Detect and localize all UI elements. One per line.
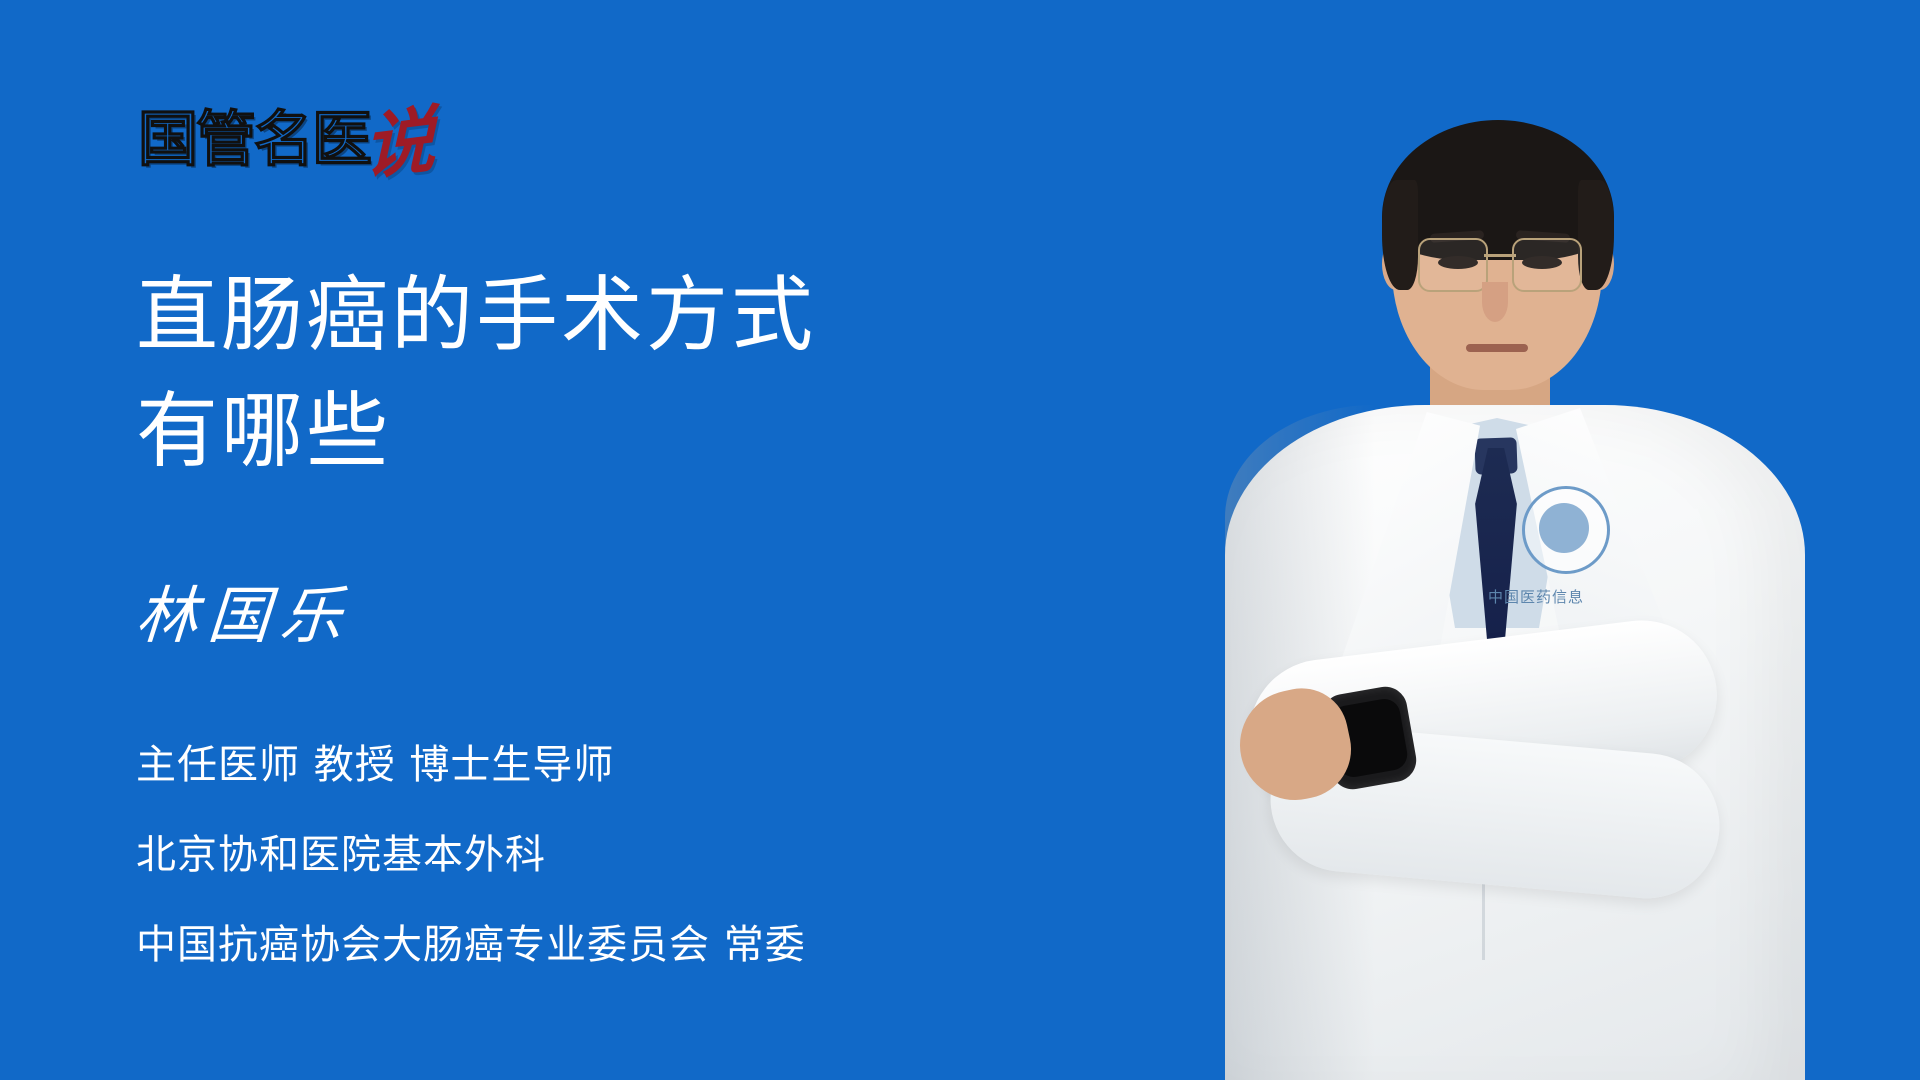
title-line-1: 直肠癌的手术方式 — [136, 258, 1086, 374]
doctor-name: 林国乐 — [133, 580, 354, 652]
portrait-hair-side-left — [1382, 180, 1418, 290]
credential-line: 中国抗癌协会大肠癌专业委员会 常委 — [136, 900, 1136, 990]
doctor-portrait-photo: 中国医药信息 — [1130, 0, 1920, 1080]
credential-line: 北京协和医院基本外科 — [136, 810, 1136, 900]
brand-logo-accent-text: 说 — [363, 109, 436, 178]
portrait-hair-side-right — [1578, 180, 1614, 290]
china-medical-information-emblem-icon — [1522, 486, 1610, 574]
doctor-credentials: 主任医师 教授 博士生导师 北京协和医院基本外科 中国抗癌协会大肠癌专业委员会 … — [136, 720, 1136, 990]
promo-banner: 国管名医 说 直肠癌的手术方式 有哪些 林国乐 主任医师 教授 博士生导师 北京… — [0, 0, 1920, 1080]
eyeglasses-lens-left — [1418, 238, 1488, 292]
page-title: 直肠癌的手术方式 有哪些 — [136, 258, 1086, 490]
brand-logo: 国管名医 说 — [138, 98, 436, 170]
title-line-2: 有哪些 — [136, 374, 1086, 490]
emblem-inner-disc — [1539, 503, 1589, 553]
eyeglasses-lens-right — [1512, 238, 1582, 292]
coat-badge-text: 中国医药信息 — [1488, 586, 1584, 607]
credential-line: 主任医师 教授 博士生导师 — [136, 720, 1136, 810]
brand-logo-main-text: 国管名医 — [138, 110, 370, 170]
portrait-nose — [1482, 282, 1508, 322]
portrait-mouth — [1466, 344, 1528, 352]
